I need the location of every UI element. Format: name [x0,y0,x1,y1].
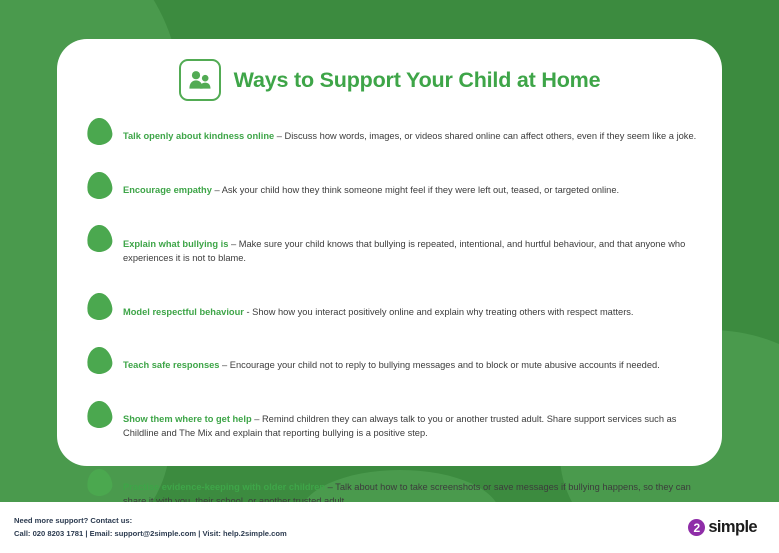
page-title: Ways to Support Your Child at Home [234,68,601,93]
leaf-bullet-icon [85,467,114,497]
tip-lead: Explain what bullying is [123,239,228,249]
content-card: Ways to Support Your Child at Home Talk … [57,39,722,466]
poster-root: Ways to Support Your Child at Home Talk … [0,0,779,553]
tips-list: Talk openly about kindness online – Disc… [87,117,699,535]
list-item: Encourage empathy – Ask your child how t… [87,171,699,207]
tip-lead: Show them where to get help [123,414,252,424]
tip-lead: Teach safe responses [123,360,219,370]
footer: Need more support? Contact us: Call: 020… [0,502,779,553]
2simple-logo: 2 simple [688,518,757,537]
leaf-bullet-icon [85,292,114,322]
tip-text: Show them where to get help – Remind chi… [123,409,699,440]
leaf-bullet-icon [85,116,114,146]
tip-lead: Practise evidence-keeping with older chi… [123,482,325,492]
tip-text: Talk openly about kindness online – Disc… [123,126,699,143]
leaf-bullet-icon [85,170,114,200]
leaf-bullet-icon [85,224,114,254]
footer-contact-heading: Need more support? Contact us: [14,515,287,527]
tip-text: Explain what bullying is – Make sure you… [123,234,699,265]
footer-contact-details: Call: 020 8203 1781 | Email: support@2si… [14,528,287,540]
leaf-bullet-icon [85,345,114,375]
list-item: Talk openly about kindness online – Disc… [87,117,699,153]
tip-lead: Encourage empathy [123,185,212,195]
leaf-bullet-icon [85,399,114,429]
tip-body: – Discuss how words, images, or videos s… [274,131,696,141]
logo-mark-icon: 2 [688,519,705,536]
tip-text: Model respectful behaviour - Show how yo… [123,302,699,319]
logo-wordmark: simple [708,518,757,537]
tip-text: Encourage empathy – Ask your child how t… [123,180,699,197]
family-two-people-icon [179,59,221,101]
list-item: Model respectful behaviour - Show how yo… [87,292,699,328]
tip-lead: Talk openly about kindness online [123,131,274,141]
tip-body: – Ask your child how they think someone … [212,185,619,195]
tip-body: – Encourage your child not to reply to b… [219,360,659,370]
list-item: Explain what bullying is – Make sure you… [87,224,699,274]
tip-lead: Model respectful behaviour [123,307,244,317]
tip-text: Teach safe responses – Encourage your ch… [123,355,699,372]
list-item: Show them where to get help – Remind chi… [87,400,699,450]
card-header: Ways to Support Your Child at Home [57,39,722,101]
tip-body: - Show how you interact positively onlin… [244,307,634,317]
list-item: Teach safe responses – Encourage your ch… [87,346,699,382]
footer-contact-block: Need more support? Contact us: Call: 020… [14,515,287,540]
